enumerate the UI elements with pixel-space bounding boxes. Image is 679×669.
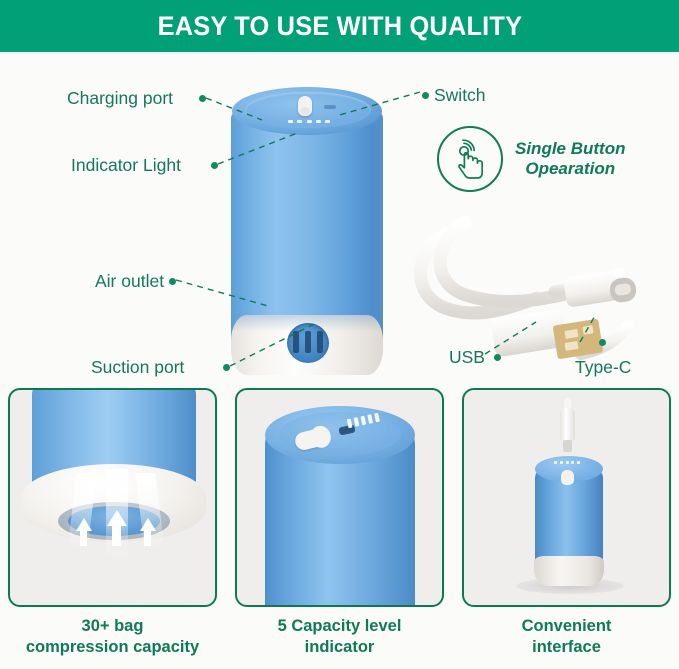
callout-dot-type-c <box>599 339 606 346</box>
suction-slat <box>305 331 311 353</box>
airflow-arrow <box>76 518 92 531</box>
indicator-light-led <box>560 461 563 464</box>
indicator-light-led <box>354 417 360 427</box>
indicator-light-led <box>325 120 330 123</box>
panel-caption: Convenient interface <box>462 616 671 657</box>
device-base-band <box>534 556 604 586</box>
header-banner: EASY TO USE WITH QUALITY <box>0 0 679 52</box>
panel-caption: 30+ bag compression capacity <box>8 616 217 657</box>
single-button-line1: Single Button <box>515 139 625 159</box>
device-top-surface <box>232 87 382 135</box>
callout-label-charging-port: Charging port <box>67 88 173 109</box>
callout-dot-indicator-light <box>211 162 218 169</box>
airflow-arrow <box>107 510 127 526</box>
indicator-light-led <box>297 120 302 123</box>
panel-caption-line2: indicator <box>235 637 444 658</box>
product-image-main <box>231 87 383 382</box>
usb-a-connector <box>490 309 603 360</box>
callout-dot-charging-port <box>199 95 206 102</box>
callout-dot-suction-port <box>223 364 230 371</box>
switch-button-physical[interactable] <box>561 470 574 485</box>
type-c-connector <box>563 270 638 308</box>
indicator-light-led <box>288 120 293 123</box>
panel-image-frame <box>462 388 671 607</box>
indicator-light-led <box>367 414 373 424</box>
hero-section: Charging port Indicator Light Air outlet… <box>0 54 679 384</box>
airflow-arrow-stem <box>80 531 87 546</box>
usb-c-tip <box>563 440 572 452</box>
callout-dot-air-outlet <box>169 278 176 285</box>
indicator-light-led <box>577 461 580 464</box>
device-body <box>231 109 383 349</box>
page-title: EASY TO USE WITH QUALITY <box>157 11 522 42</box>
panel-caption-line1: 5 Capacity level <box>235 616 444 637</box>
callout-label-suction-port: Suction port <box>91 357 184 378</box>
airflow-arrow-stem <box>144 531 151 546</box>
callout-label-air-outlet: Air outlet <box>95 271 164 292</box>
airflow-arrow <box>140 518 156 531</box>
indicator-light-led <box>347 419 353 429</box>
tap-gesture-icon <box>437 126 503 192</box>
feature-panel-capacity-indicator[interactable]: 5 Capacity level indicator <box>235 388 444 657</box>
suction-slat <box>293 331 299 353</box>
feature-panel-interface[interactable]: Convenient interface <box>462 388 671 657</box>
panel-caption-line2: interface <box>462 637 671 658</box>
callout-label-type-c: Type-C <box>575 357 631 378</box>
single-button-label: Single Button Opearation <box>515 139 625 179</box>
panel-caption-line1: Convenient <box>462 616 671 637</box>
single-button-badge: Single Button Opearation <box>437 124 667 194</box>
callout-dot-usb <box>494 354 501 361</box>
suction-slat <box>317 331 323 353</box>
panel-image-frame <box>8 388 217 607</box>
panel-caption: 5 Capacity level indicator <box>235 616 444 657</box>
usb-c-connector <box>560 408 575 442</box>
panel-caption-line1: 30+ bag <box>8 616 217 637</box>
callout-dot-switch <box>422 92 429 99</box>
callout-label-switch: Switch <box>434 85 486 106</box>
single-button-line2: Opearation <box>515 159 625 179</box>
indicator-light-led <box>571 461 574 464</box>
indicator-light-led <box>316 120 321 123</box>
indicator-light-row <box>288 120 330 124</box>
feature-panels: 30+ bag compression capacity 5 Capacity … <box>0 388 679 669</box>
indicator-light-led <box>360 416 366 426</box>
charging-port-slot <box>324 105 336 109</box>
indicator-light-led <box>554 461 557 464</box>
indicator-light-led <box>307 120 312 123</box>
airflow-arrow-stem <box>112 526 121 546</box>
switch-button-physical[interactable] <box>298 96 312 116</box>
panel-caption-line2: compression capacity <box>8 637 217 658</box>
callout-label-indicator-light: Indicator Light <box>71 155 181 176</box>
indicator-light-led <box>566 461 569 464</box>
indicator-light-row <box>554 461 580 465</box>
panel-image-frame <box>235 388 444 607</box>
callout-label-usb: USB <box>449 347 485 368</box>
feature-panel-compression[interactable]: 30+ bag compression capacity <box>8 388 217 657</box>
suction-port-opening <box>287 323 329 363</box>
